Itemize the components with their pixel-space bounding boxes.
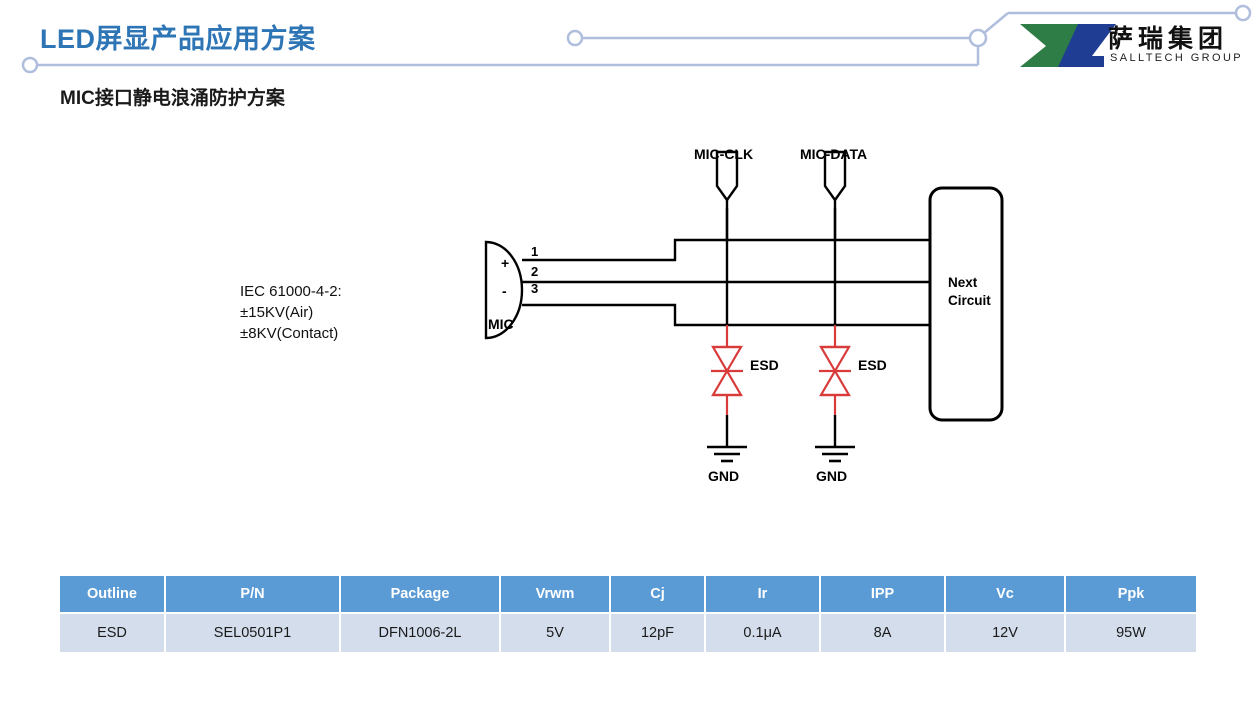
pin-number-2: 2: [531, 264, 538, 279]
column-header-pn: P/N: [165, 576, 340, 613]
spec-table: Outline P/N Package Vrwm Cj Ir IPP Vc Pp…: [60, 576, 1196, 652]
cell-ipp: 8A: [820, 613, 945, 652]
cell-vrwm: 5V: [500, 613, 610, 652]
slide-root: LED屏显产品应用方案 MIC接口静电浪涌防护方案 萨瑞集团 SALLTECH …: [0, 0, 1255, 703]
column-header-ppk: Ppk: [1065, 576, 1196, 613]
column-header-package: Package: [340, 576, 500, 613]
deco-circle-junction: [970, 30, 986, 46]
esd-diode-clk: [711, 325, 743, 415]
label-gnd-data: GND: [816, 468, 847, 484]
cell-package: DFN1006-2L: [340, 613, 500, 652]
table-row: ESD SEL0501P1 DFN1006-2L 5V 12pF 0.1μA 8…: [60, 613, 1196, 652]
cell-outline: ESD: [60, 613, 165, 652]
label-gnd-clk: GND: [708, 468, 739, 484]
column-header-outline: Outline: [60, 576, 165, 613]
label-mic-data: MIC-DATA: [800, 146, 867, 162]
connector-plus-sign: +: [501, 255, 509, 271]
pin-number-1: 1: [531, 244, 538, 259]
circuit-diagram: [0, 130, 1060, 510]
cell-ppk: 95W: [1065, 613, 1196, 652]
logo-name-cn: 萨瑞集团: [1108, 19, 1228, 55]
label-mic-clk: MIC-CLK: [694, 146, 753, 162]
label-esd-data: ESD: [858, 357, 887, 373]
table-header-row: Outline P/N Package Vrwm Cj Ir IPP Vc Pp…: [60, 576, 1196, 613]
gnd-symbol-data: [815, 447, 855, 461]
deco-circle-mid: [568, 31, 582, 45]
pin-number-3: 3: [531, 281, 538, 296]
esd-diode-data: [819, 325, 851, 415]
cell-vc: 12V: [945, 613, 1065, 652]
column-header-ipp: IPP: [820, 576, 945, 613]
cell-cj: 12pF: [610, 613, 705, 652]
cell-ir: 0.1μA: [705, 613, 820, 652]
connector-minus-sign: -: [502, 283, 507, 299]
column-header-vc: Vc: [945, 576, 1065, 613]
deco-circle-left: [23, 58, 37, 72]
column-header-vrwm: Vrwm: [500, 576, 610, 613]
label-mic: MIC: [488, 316, 514, 332]
label-next-circuit-line1: Next: [948, 275, 977, 290]
label-esd-clk: ESD: [750, 357, 779, 373]
section-title: MIC接口静电浪涌防护方案: [60, 83, 285, 110]
gnd-symbol-clk: [707, 447, 747, 461]
page-title: LED屏显产品应用方案: [40, 17, 316, 56]
column-header-cj: Cj: [610, 576, 705, 613]
logo-name-en: SALLTECH GROUP: [1110, 52, 1243, 64]
cell-pn: SEL0501P1: [165, 613, 340, 652]
column-header-ir: Ir: [705, 576, 820, 613]
label-next-circuit-line2: Circuit: [948, 293, 991, 308]
